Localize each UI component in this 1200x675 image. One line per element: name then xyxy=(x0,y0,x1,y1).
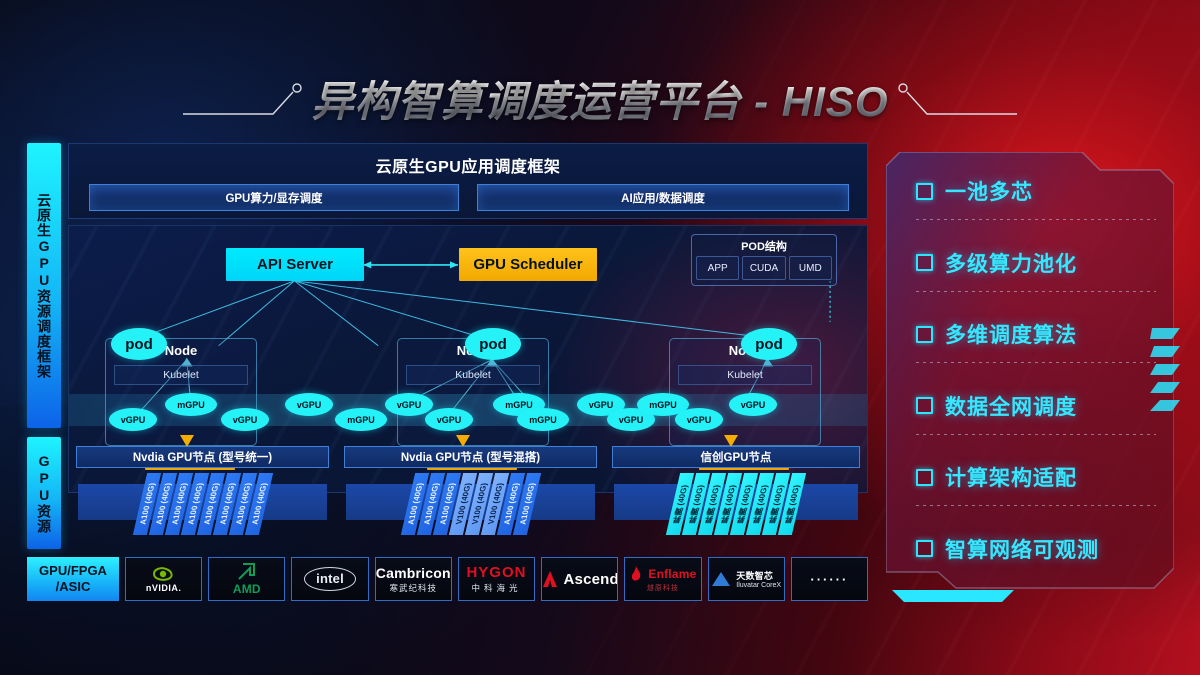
feature-divider xyxy=(916,362,1156,363)
vendor-logo-ascend[interactable]: Ascend xyxy=(541,557,618,601)
pod-cell-cuda: CUDA xyxy=(742,256,785,280)
vendor-label-line2: /ASIC xyxy=(56,580,91,595)
vendor-name-cn: 中科海光 xyxy=(471,582,521,594)
feature-label: 多级算力池化 xyxy=(945,248,1077,278)
iluvatar-mountain-icon xyxy=(711,571,731,587)
vendor-label-gpu-fpga-asic: GPU/FPGA /ASIC xyxy=(27,557,119,601)
vendor-name: Enflame xyxy=(648,567,696,581)
gpu-card-list: 昇腾 (40G) 昇腾 (40G) 昇腾 (40G) 昇腾 (40G) 昇腾 (… xyxy=(612,473,860,535)
gpu-group-2: Nvdia GPU节点 (型号混搭) A100 (40G) A100 (40G)… xyxy=(344,440,597,550)
gpu-resources-row: Nvdia GPU节点 (型号统一) A100 (40G) A100 (40G)… xyxy=(68,440,868,550)
feature-list: 一池多芯 多级算力池化 多维调度算法 数据全网调度 计算架构适配 智算网络可观测 xyxy=(916,176,1162,578)
checkbox-square-icon xyxy=(916,397,933,414)
vendor-name: Cambricon xyxy=(376,565,451,581)
feature-item-6[interactable]: 智算网络可观测 xyxy=(916,528,1162,578)
mgpu-ellipse[interactable]: mGPU xyxy=(335,408,387,431)
features-panel: 一池多芯 多级算力池化 多维调度算法 数据全网调度 计算架构适配 智算网络可观测 xyxy=(886,152,1174,596)
vendor-name: intel xyxy=(316,571,344,586)
pod-structure-box: POD结构 APP CUDA UMD xyxy=(691,234,837,286)
slide-title-bar: 异构智算调度运营平台 - HISO xyxy=(0,62,1200,134)
feature-item-4[interactable]: 数据全网调度 xyxy=(916,385,1162,435)
pod-ellipse-1[interactable]: pod xyxy=(111,328,167,360)
mgpu-ellipse[interactable]: mGPU xyxy=(165,393,217,416)
feature-label: 数据全网调度 xyxy=(945,391,1077,421)
vgpu-ellipse[interactable]: vGPU xyxy=(425,408,473,431)
vgpu-ellipse[interactable]: vGPU xyxy=(285,393,333,416)
enflame-lockup: Enflame xyxy=(629,566,696,582)
vendor-logo-nvidia[interactable]: nVIDIA. xyxy=(125,557,202,601)
sidebar-tab-label: GPU资源 xyxy=(37,453,51,534)
gpu-group-3: 信创GPU节点 昇腾 (40G) 昇腾 (40G) 昇腾 (40G) 昇腾 (4… xyxy=(612,440,860,550)
vendor-name: AMD xyxy=(233,582,261,596)
ascend-a-icon xyxy=(541,570,558,588)
mgpu-ellipse[interactable]: mGPU xyxy=(517,408,569,431)
vendor-label-line1: GPU/FPGA xyxy=(39,564,107,579)
vendor-name: HYGON xyxy=(466,564,526,581)
title-left-decoration xyxy=(181,78,311,118)
feature-item-2[interactable]: 多级算力池化 xyxy=(916,242,1162,292)
checkbox-square-icon xyxy=(916,469,933,486)
gpu-group-1: Nvdia GPU节点 (型号统一) A100 (40G) A100 (40G)… xyxy=(76,440,329,550)
vendor-logo-more[interactable]: ······ xyxy=(791,557,868,601)
iluvatar-text: 天数智芯 Iluvatar CoreX xyxy=(736,569,781,589)
vgpu-ellipse[interactable]: vGPU xyxy=(109,408,157,431)
feature-item-1[interactable]: 一池多芯 xyxy=(916,176,1162,220)
panel-header-title: 云原生GPU应用调度框架 xyxy=(69,153,867,177)
vendor-logo-enflame[interactable]: Enflame 燧原科技 xyxy=(624,557,701,601)
gpu-scheduler-box[interactable]: GPU Scheduler xyxy=(459,248,597,281)
amd-arrow-icon xyxy=(237,563,257,581)
feature-label: 智算网络可观测 xyxy=(945,534,1099,564)
vendor-logo-cambricon[interactable]: Cambricon 寒武纪科技 xyxy=(375,557,452,601)
enflame-flame-icon xyxy=(629,566,643,582)
title-right-decoration xyxy=(889,78,1019,118)
vendor-logo-hygon[interactable]: HYGON 中科海光 xyxy=(458,557,535,601)
checkbox-square-icon xyxy=(916,254,933,271)
feature-label: 一池多芯 xyxy=(945,176,1033,206)
checkbox-square-icon xyxy=(916,540,933,557)
page-title: 异构智算调度运营平台 - HISO xyxy=(311,68,888,129)
vgpu-ellipse[interactable]: vGPU xyxy=(729,393,777,416)
pod-cell-umd: UMD xyxy=(789,256,832,280)
gpu-card-list: A100 (40G) A100 (40G) A100 (40G) V100 (4… xyxy=(344,473,597,535)
vendor-name: Ascend xyxy=(564,571,619,588)
vendor-more-ellipsis: ······ xyxy=(810,572,848,587)
vendor-logo-strip: GPU/FPGA /ASIC nVIDIA. AMD intel Cambric… xyxy=(27,557,868,601)
vendor-name-cn: 燧原科技 xyxy=(647,583,679,593)
pod-structure-cells: APP CUDA UMD xyxy=(696,256,832,280)
pod-ellipse-3[interactable]: pod xyxy=(741,328,797,360)
gpu-group-title: Nvdia GPU节点 (型号混搭) xyxy=(344,446,597,468)
vgpu-ellipse[interactable]: vGPU xyxy=(675,408,723,431)
intel-oval: intel xyxy=(304,567,356,591)
gpu-group-title: 信创GPU节点 xyxy=(612,446,860,468)
gpu-group-title: Nvdia GPU节点 (型号统一) xyxy=(76,446,329,468)
panel-bottom-accent xyxy=(892,590,1014,604)
vendor-name: nVIDIA. xyxy=(146,583,182,593)
gpu-card-list: A100 (40G) A100 (40G) A100 (40G) A100 (4… xyxy=(76,473,329,535)
checkbox-square-icon xyxy=(916,326,933,343)
nvidia-eye-icon xyxy=(151,566,177,582)
feature-divider xyxy=(916,291,1156,292)
feature-label: 计算架构适配 xyxy=(945,462,1077,492)
vendor-logo-intel[interactable]: intel xyxy=(291,557,368,601)
vendor-name: Iluvatar CoreX xyxy=(736,582,781,589)
pod-structure-title: POD结构 xyxy=(692,238,836,254)
sidebar-tab-gpu-resources[interactable]: GPU资源 xyxy=(27,437,61,549)
feature-item-3[interactable]: 多维调度算法 xyxy=(916,313,1162,363)
header-bar-ai-data[interactable]: AI应用/数据调度 xyxy=(477,184,849,211)
feature-item-5[interactable]: 计算架构适配 xyxy=(916,456,1162,506)
vgpu-ellipse[interactable]: vGPU xyxy=(221,408,269,431)
vendor-name-cn: 寒武纪科技 xyxy=(390,582,438,594)
checkbox-square-icon xyxy=(916,183,933,200)
kubelet-box: Kubelet xyxy=(678,365,812,385)
iluvatar-lockup: 天数智芯 Iluvatar CoreX xyxy=(711,569,781,589)
kubelet-box: Kubelet xyxy=(114,365,248,385)
vendor-name-cn: 天数智芯 xyxy=(736,569,773,582)
vendor-logo-amd[interactable]: AMD xyxy=(208,557,285,601)
sidebar-tab-label: 云原生GPU资源调度框架 xyxy=(37,193,51,379)
sidebar-tab-cloud-native-gpu[interactable]: 云原生GPU资源调度框架 xyxy=(27,143,61,428)
feature-label: 多维调度算法 xyxy=(945,319,1077,349)
panel-header: 云原生GPU应用调度框架 GPU算力/显存调度 AI应用/数据调度 xyxy=(68,143,868,219)
ascend-lockup: Ascend xyxy=(541,570,618,588)
feature-divider xyxy=(916,219,1156,220)
api-server-box[interactable]: API Server xyxy=(226,248,364,281)
kubelet-box: Kubelet xyxy=(406,365,540,385)
feature-divider xyxy=(916,434,1156,435)
pod-cell-app: APP xyxy=(696,256,739,280)
header-bar-gpu-compute[interactable]: GPU算力/显存调度 xyxy=(89,184,459,211)
pod-ellipse-2[interactable]: pod xyxy=(465,328,521,360)
vendor-logo-iluvatar[interactable]: 天数智芯 Iluvatar CoreX xyxy=(708,557,785,601)
vgpu-ellipse[interactable]: vGPU xyxy=(385,393,433,416)
feature-divider xyxy=(916,505,1156,506)
